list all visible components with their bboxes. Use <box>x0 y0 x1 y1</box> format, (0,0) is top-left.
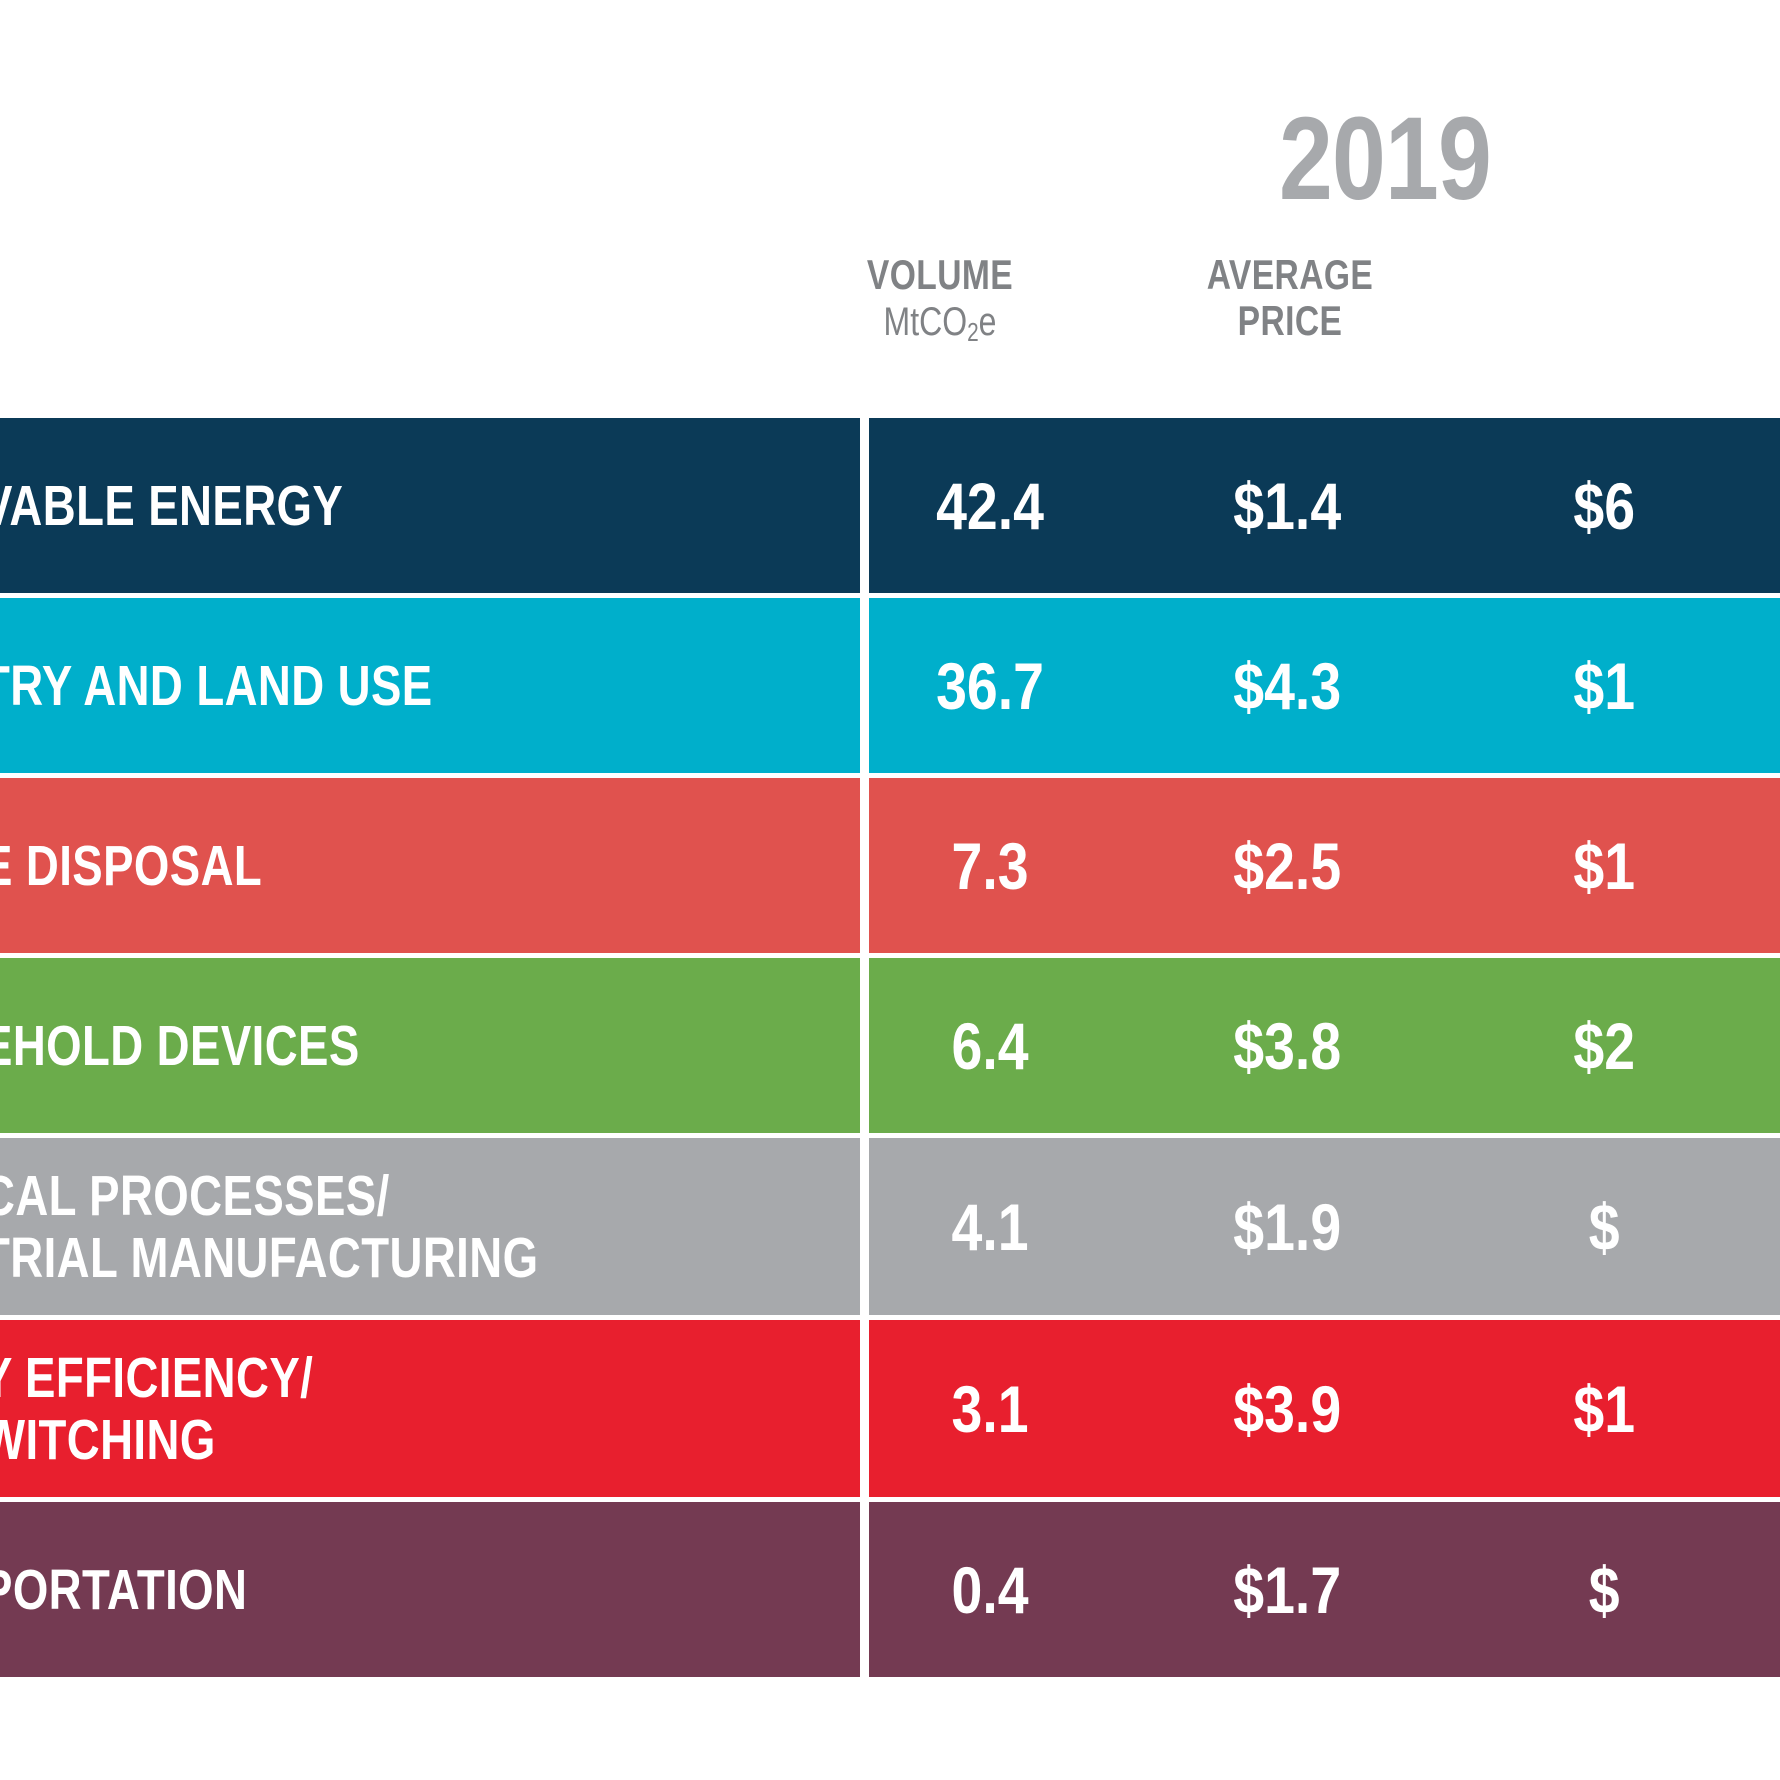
cell-avg-price: $3.8 <box>1154 1011 1420 1081</box>
cell-volume: 42.4 <box>873 471 1107 541</box>
data-table: VABLE ENERGY 42.4 $1.4 $6 TRY AND LAND U… <box>0 418 1780 1682</box>
row-label: VABLE ENERGY <box>0 475 670 537</box>
cell-avg-price: $1.4 <box>1154 471 1420 541</box>
row-values: 6.4 $3.8 $2 <box>842 1011 1762 1081</box>
cell-volume: 6.4 <box>873 1011 1107 1081</box>
cell-value: $1 <box>1471 651 1737 721</box>
row-values: 0.4 $1.7 $ <box>842 1555 1762 1625</box>
row-values: 3.1 $3.9 $1 <box>842 1374 1762 1444</box>
cell-avg-price: $4.3 <box>1154 651 1420 721</box>
column-divider <box>860 1138 869 1315</box>
cell-volume: 36.7 <box>873 651 1107 721</box>
cell-volume: 7.3 <box>873 831 1107 901</box>
row-label: PORTATION <box>0 1559 670 1621</box>
unit-prefix: MtCO <box>884 300 968 344</box>
table-row[interactable]: EHOLD DEVICES 6.4 $3.8 $2 <box>0 958 1780 1133</box>
column-header-volume-label: VOLUME <box>867 251 1013 298</box>
cell-value: $ <box>1471 1555 1737 1625</box>
cell-value: $1 <box>1471 831 1737 901</box>
row-values: 42.4 $1.4 $6 <box>842 471 1762 541</box>
table-row[interactable]: VABLE ENERGY 42.4 $1.4 $6 <box>0 418 1780 593</box>
row-label: E DISPOSAL <box>0 835 670 897</box>
column-divider <box>860 958 869 1133</box>
row-values: 36.7 $4.3 $1 <box>842 651 1762 721</box>
row-label: EHOLD DEVICES <box>0 1015 670 1077</box>
column-divider <box>860 1320 869 1497</box>
unit-subscript: 2 <box>967 317 979 347</box>
cell-avg-price: $1.9 <box>1154 1192 1420 1262</box>
page-title-year: 2019 <box>1209 100 1562 218</box>
cell-volume: 0.4 <box>873 1555 1107 1625</box>
cell-avg-price: $1.7 <box>1154 1555 1420 1625</box>
column-header-volume: VOLUME MtCO2e <box>820 252 1060 344</box>
column-divider <box>860 418 869 593</box>
unit-suffix: e <box>979 300 997 344</box>
column-divider <box>860 1502 869 1677</box>
column-divider <box>860 778 869 953</box>
cell-volume: 3.1 <box>873 1374 1107 1444</box>
row-label: Y EFFICIENCY/ WITCHING <box>0 1347 670 1471</box>
cell-value: $2 <box>1471 1011 1737 1081</box>
table-row[interactable]: CAL PROCESSES/ TRIAL MANUFACTURING 4.1 $… <box>0 1138 1780 1315</box>
column-divider <box>860 598 869 773</box>
cell-value: $6 <box>1471 471 1737 541</box>
table-row[interactable]: E DISPOSAL 7.3 $2.5 $1 <box>0 778 1780 953</box>
cell-volume: 4.1 <box>873 1192 1107 1262</box>
table-row[interactable]: TRY AND LAND USE 36.7 $4.3 $1 <box>0 598 1780 773</box>
row-values: 7.3 $2.5 $1 <box>842 831 1762 901</box>
column-header-third-truncated: V <box>1690 252 1780 298</box>
row-label: CAL PROCESSES/ TRIAL MANUFACTURING <box>0 1165 670 1289</box>
cell-avg-price: $2.5 <box>1154 831 1420 901</box>
table-header: 2019 VOLUME MtCO2e AVERAGE PRICE V <box>0 0 1780 418</box>
cell-avg-price: $3.9 <box>1154 1374 1420 1444</box>
column-header-volume-unit: MtCO2e <box>820 300 1060 344</box>
row-label: TRY AND LAND USE <box>0 655 670 717</box>
table-row[interactable]: PORTATION 0.4 $1.7 $ <box>0 1502 1780 1677</box>
cell-value: $1 <box>1471 1374 1737 1444</box>
column-header-average-price: AVERAGE PRICE <box>1162 252 1418 344</box>
table-row[interactable]: Y EFFICIENCY/ WITCHING 3.1 $3.9 $1 <box>0 1320 1780 1497</box>
row-values: 4.1 $1.9 $ <box>842 1192 1762 1262</box>
cell-value: $ <box>1471 1192 1737 1262</box>
